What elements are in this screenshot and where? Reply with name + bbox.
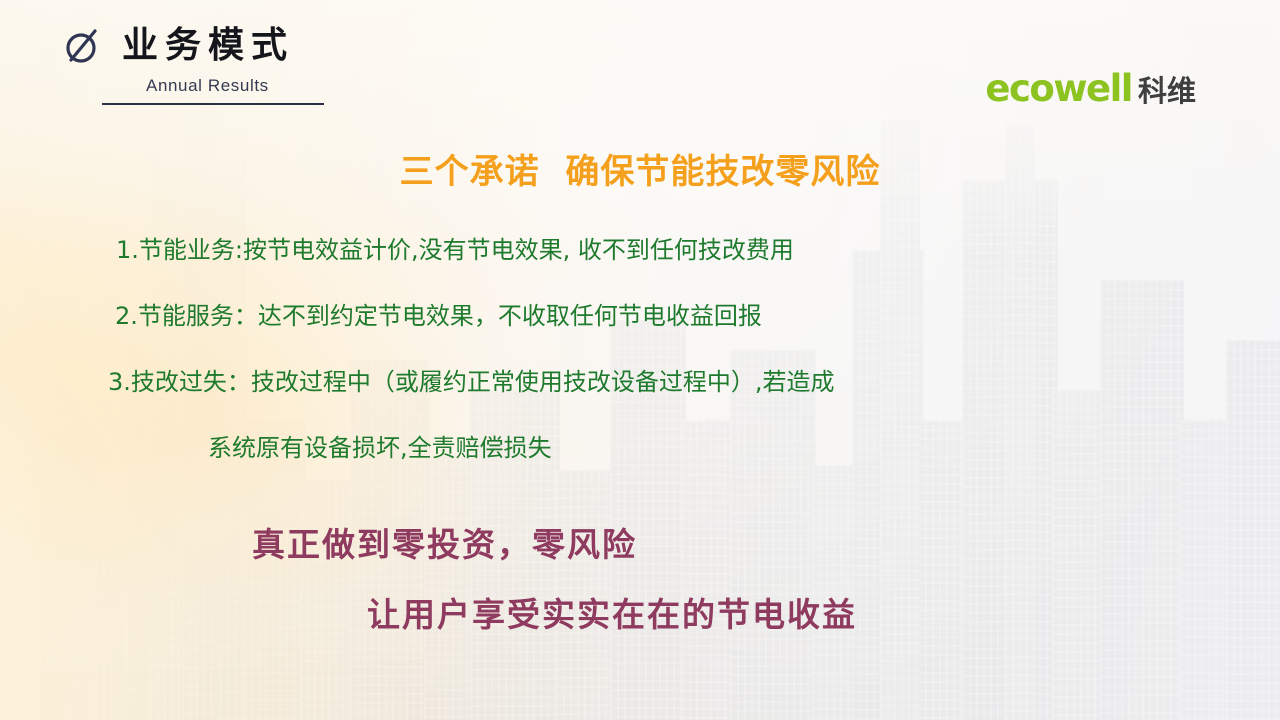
conclusion-line: 真正做到零投资，零风险 <box>252 528 637 561</box>
list-item: 1.节能业务:按节电效益计价,没有节电效果, 收不到任何技改费用 <box>116 238 794 262</box>
brand-name-cn: 科维 <box>1138 77 1196 106</box>
brand-logo: ecowell 科维 <box>985 70 1196 107</box>
page-title: 业务模式 <box>122 27 294 63</box>
circle-slash-icon <box>64 22 104 68</box>
page-subtitle: Annual Results <box>146 76 484 96</box>
slide: 业务模式 Annual Results ecowell 科维 三个承诺 确保节能… <box>0 0 1280 720</box>
list-item-continuation: 系统原有设备损坏,全责赔偿损失 <box>208 436 552 460</box>
list-item: 2.节能服务：达不到约定节电效果，不收取任何节电收益回报 <box>115 304 762 328</box>
slide-header: 业务模式 Annual Results <box>64 22 484 105</box>
list-item: 3.技改过失：技改过程中（或履约正常使用技改设备过程中）,若造成 <box>108 370 835 394</box>
headline: 三个承诺 确保节能技改零风险 <box>0 144 1280 193</box>
brand-name-en: ecowell <box>985 70 1132 107</box>
conclusion-line: 让用户享受实实在在的节电收益 <box>367 598 857 631</box>
title-divider <box>102 103 324 105</box>
header-title-row: 业务模式 <box>64 22 484 68</box>
